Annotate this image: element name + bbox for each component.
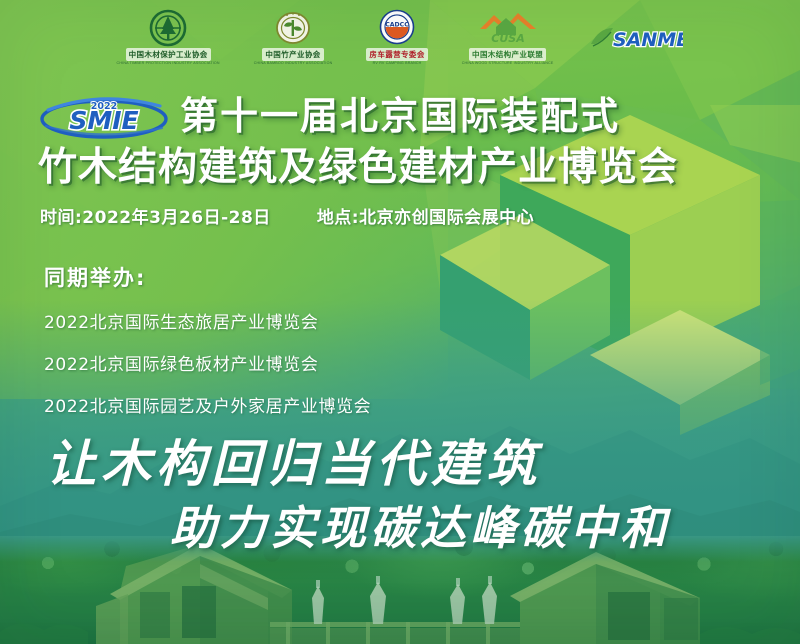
cadcc-badge-icon: CADCC (377, 9, 417, 47)
concurrent-events: 同期举办: 2022北京国际生态旅居产业博览会 2022北京国际绿色板材产业博览… (44, 262, 371, 434)
pine-tree-emblem-icon (149, 9, 187, 47)
svg-text:SMIE: SMIE (69, 106, 138, 135)
sponsor-name-cn-1: 中国竹产业协会 (262, 48, 323, 61)
sanmei-leaf-wordmark-icon: SANMEI (587, 22, 683, 52)
sponsor-name-cn-2: 房车露营专委会 (366, 48, 427, 61)
smie-logo: 2022 SMIE (38, 92, 170, 140)
sponsor-logo-2: CADCC 房车露营专委会 RV RV CAMPING BRANCH (366, 9, 427, 65)
sponsor-name-cn-0: 中国木材保护工业协会 (126, 48, 211, 61)
exhibition-poster: 中国木材保护工业协会 CHINA TIMBER PROTECTION INDUS… (0, 0, 800, 644)
concurrent-item-1: 2022北京国际绿色板材产业博览会 (44, 350, 371, 375)
bamboo-emblem-icon (274, 9, 312, 47)
sponsor-logo-4: SANMEI (587, 22, 683, 52)
title-line-1: 第十一届北京国际装配式 (180, 94, 620, 138)
svg-text:SANMEI: SANMEI (613, 29, 683, 51)
event-meta: 时间:2022年3月26日-28日 地点:北京亦创国际会展中心 (40, 203, 534, 228)
event-venue: 地点:北京亦创国际会展中心 (317, 203, 534, 228)
svg-text:CUSA: CUSA (491, 32, 524, 45)
slogan-line-1: 让木构回归当代建筑 (46, 424, 541, 496)
sponsor-name-cn-3: 中国木结构产业联盟 (469, 48, 546, 61)
sponsor-logo-3: CUSA 中国木结构产业联盟 CHINA WOOD STRUCTURE INDU… (462, 9, 554, 65)
concurrent-item-0: 2022北京国际生态旅居产业博览会 (44, 308, 371, 333)
sponsor-name-en-2: RV RV CAMPING BRANCH (373, 61, 422, 65)
house-roof-cusa-icon: CUSA (476, 9, 540, 47)
svg-text:CADCC: CADCC (385, 22, 409, 29)
sponsor-name-en-1: CHINA BAMBOO INDUSTRY ASSOCIATION (254, 61, 333, 65)
sponsor-logo-strip: 中国木材保护工业协会 CHINA TIMBER PROTECTION INDUS… (0, 6, 800, 68)
title-line-2: 竹木结构建筑及绿色建材产业博览会 (38, 146, 780, 190)
title-block: 2022 SMIE 第十一届北京国际装配式 竹木结构建筑及绿色建材产业博览会 (38, 92, 780, 190)
sponsor-name-en-3: CHINA WOOD STRUCTURE INDUSTRY ALLIANCE (462, 61, 554, 65)
sponsor-name-en-0: CHINA TIMBER PROTECTION INDUSTRY ASSOCIA… (117, 61, 220, 65)
sponsor-logo-1: 中国竹产业协会 CHINA BAMBOO INDUSTRY ASSOCIATIO… (254, 9, 333, 65)
concurrent-heading: 同期举办: (44, 262, 371, 292)
sponsor-logo-0: 中国木材保护工业协会 CHINA TIMBER PROTECTION INDUS… (117, 9, 220, 65)
slogan-line-2: 助力实现碳达峰碳中和 (170, 492, 670, 558)
concurrent-item-2: 2022北京国际园艺及户外家居产业博览会 (44, 392, 371, 417)
event-date: 时间:2022年3月26日-28日 (40, 203, 271, 228)
